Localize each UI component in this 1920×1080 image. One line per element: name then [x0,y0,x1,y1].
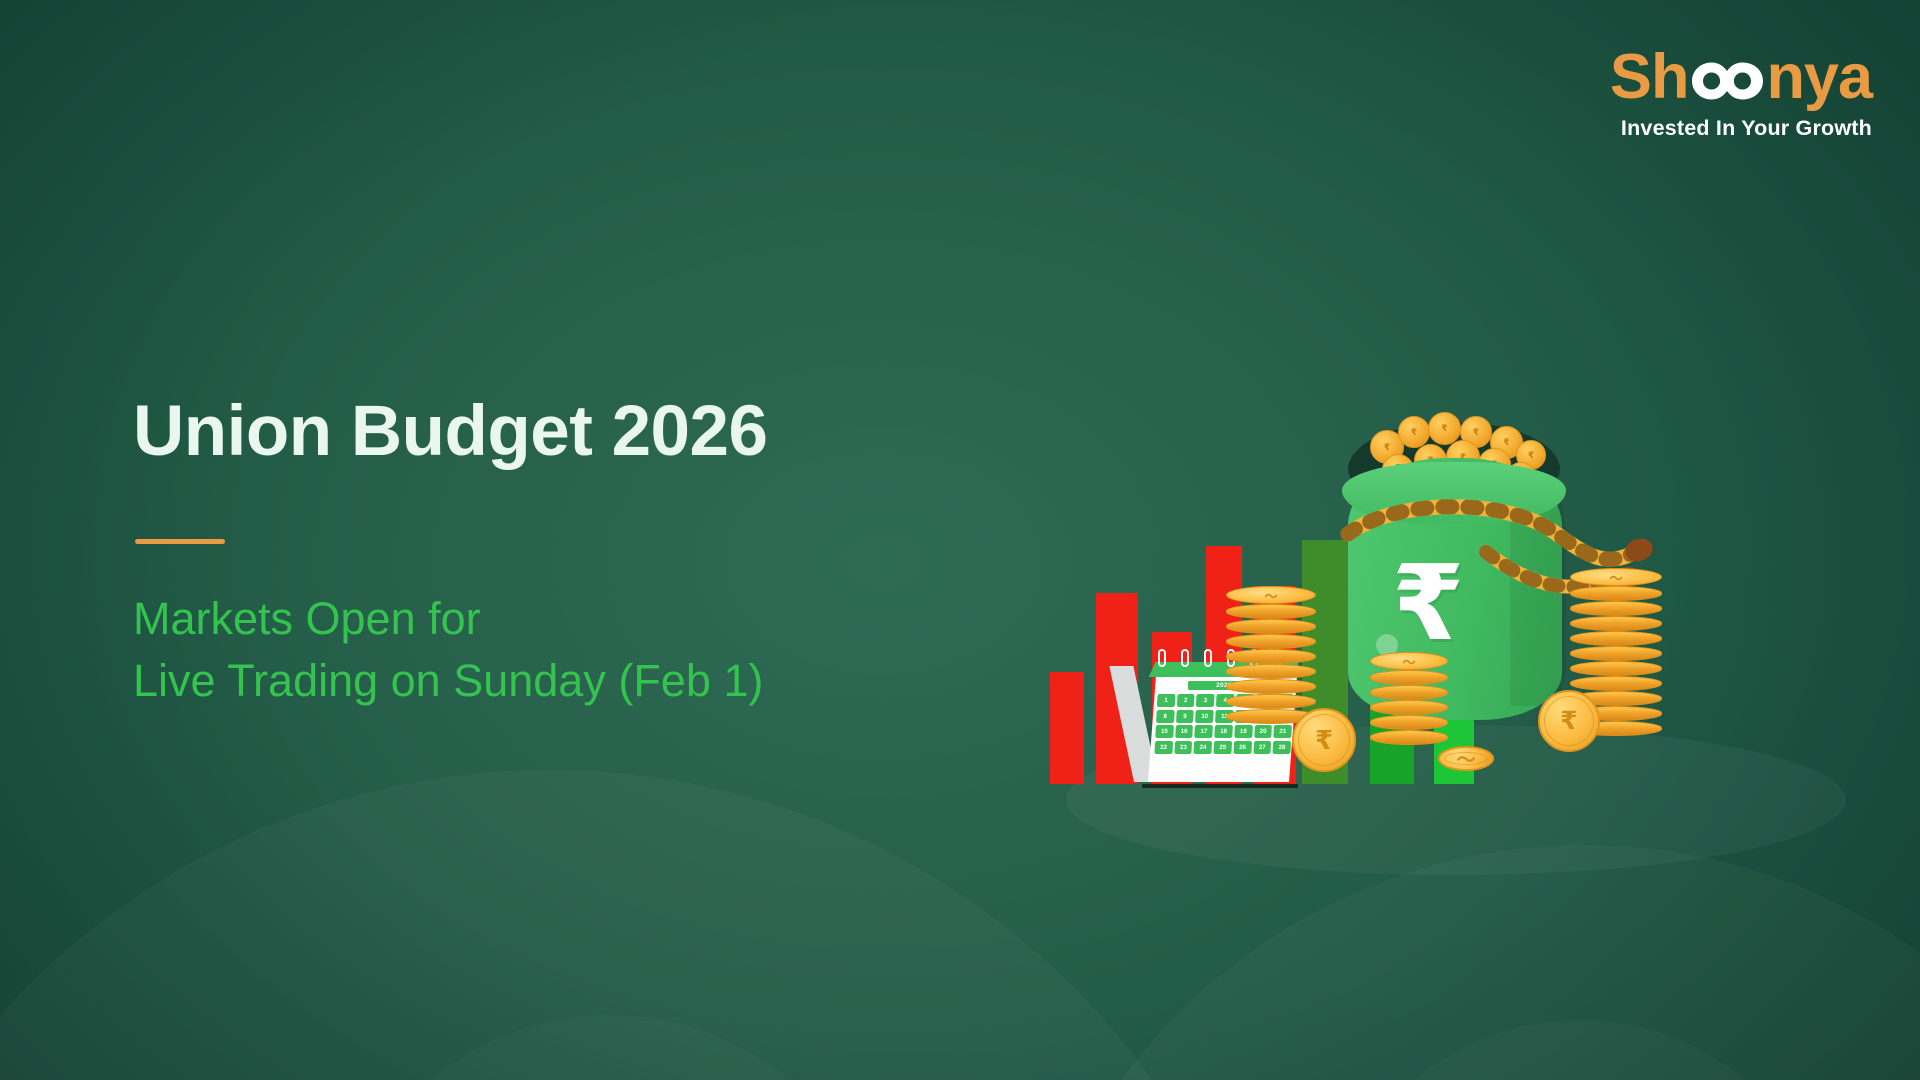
coin-edge [1226,634,1316,649]
coin-edge [1226,694,1316,709]
subtitle-line-1: Markets Open for [133,588,768,650]
rupee-coin: ₹ [1398,416,1430,448]
coin-edge [1370,715,1448,730]
coin-edge [1570,586,1662,601]
background-arc-right [1010,845,1920,1080]
infinity-icon [1689,58,1765,104]
coin-edge [1226,649,1316,664]
coin-edge [1226,679,1316,694]
coin-edge [1570,676,1662,691]
money-bag-icon: ₹₹₹₹₹₹₹₹₹₹₹₹₹₹₹₹ ₹ [1330,400,1580,730]
background-arc-small-right [1320,1020,1840,1080]
shoonya-logo[interactable]: Sh nya Invested In Your Growth [1610,46,1872,140]
coin-top-face: 〜 [1370,652,1448,670]
calendar-ring [1181,649,1189,667]
calendar-day-cell: 22 [1154,741,1172,754]
coin-top-face: 〜 [1570,568,1662,586]
calendar-day-cell: 2 [1177,694,1195,707]
coin-edge [1370,700,1448,715]
logo-word-part1: Sh [1610,46,1689,109]
calendar-day-cell: 24 [1194,741,1212,754]
rupee-coin-front-left: ₹ [1292,708,1356,772]
calendar-day-cell: 23 [1174,741,1192,754]
calendar-day-cell: 28 [1273,741,1291,754]
calendar-day-cell: 1 [1157,694,1175,707]
calendar-day-cell: 18 [1214,725,1232,738]
coin-edge [1370,670,1448,685]
coin-edge [1226,619,1316,634]
calendar-day-cell: 15 [1155,725,1173,738]
banner-canvas: Sh nya Invested In Your Growth Union Bud… [0,0,1920,1080]
coin-edge [1226,664,1316,679]
subtitle-line-2: Live Trading on Sunday (Feb 1) [133,650,768,712]
rupee-coin-front-right: ₹ [1538,690,1600,752]
logo-wordmark: Sh nya [1610,46,1872,109]
logo-word-part2: nya [1766,46,1872,109]
calendar-day-cell: 10 [1196,710,1214,723]
calendar-day-cell: 27 [1253,741,1271,754]
calendar-day-cell: 16 [1175,725,1193,738]
calendar-base-shadow [1142,784,1298,788]
calendar-day-cell: 8 [1156,710,1174,723]
coin-edge [1570,601,1662,616]
coin-edge [1226,604,1316,619]
calendar-day-cell: 21 [1274,725,1292,738]
rupee-coin: ₹ [1428,412,1461,445]
coin-edge [1370,730,1448,745]
page-title: Union Budget 2026 [133,395,768,469]
coin-edge [1570,646,1662,661]
accent-divider [135,539,225,544]
headline-block: Union Budget 2026 Markets Open for Live … [133,395,768,712]
rupee-coin-lying: 〜 [1438,746,1494,771]
calendar-ring [1158,649,1166,667]
coin-stack-center: 〜 [1370,652,1448,745]
coin-top-face: 〜 [1226,586,1316,604]
coin-stack-left: 〜 [1226,586,1316,724]
calendar-day-cell: 19 [1234,725,1252,738]
logo-tagline: Invested In Your Growth [1610,118,1872,140]
coin-edge [1570,631,1662,646]
calendar-day-cell: 20 [1254,725,1272,738]
calendar-day-cell: 25 [1214,741,1232,754]
calendar-ring [1204,649,1212,667]
budget-finance-illustration: 2023 12345678910111213141516171819202122… [1040,390,1860,870]
calendar-day-cell: 3 [1196,694,1214,707]
calendar-day-cell: 17 [1195,725,1213,738]
subtitle: Markets Open for Live Trading on Sunday … [133,588,768,712]
background-arc-small-left [330,1015,890,1080]
calendar-day-cell: 9 [1176,710,1194,723]
coin-edge [1570,616,1662,631]
chart-bar [1050,672,1084,784]
coin-edge [1570,661,1662,676]
coin-edge [1370,685,1448,700]
calendar-day-cell: 26 [1233,741,1251,754]
